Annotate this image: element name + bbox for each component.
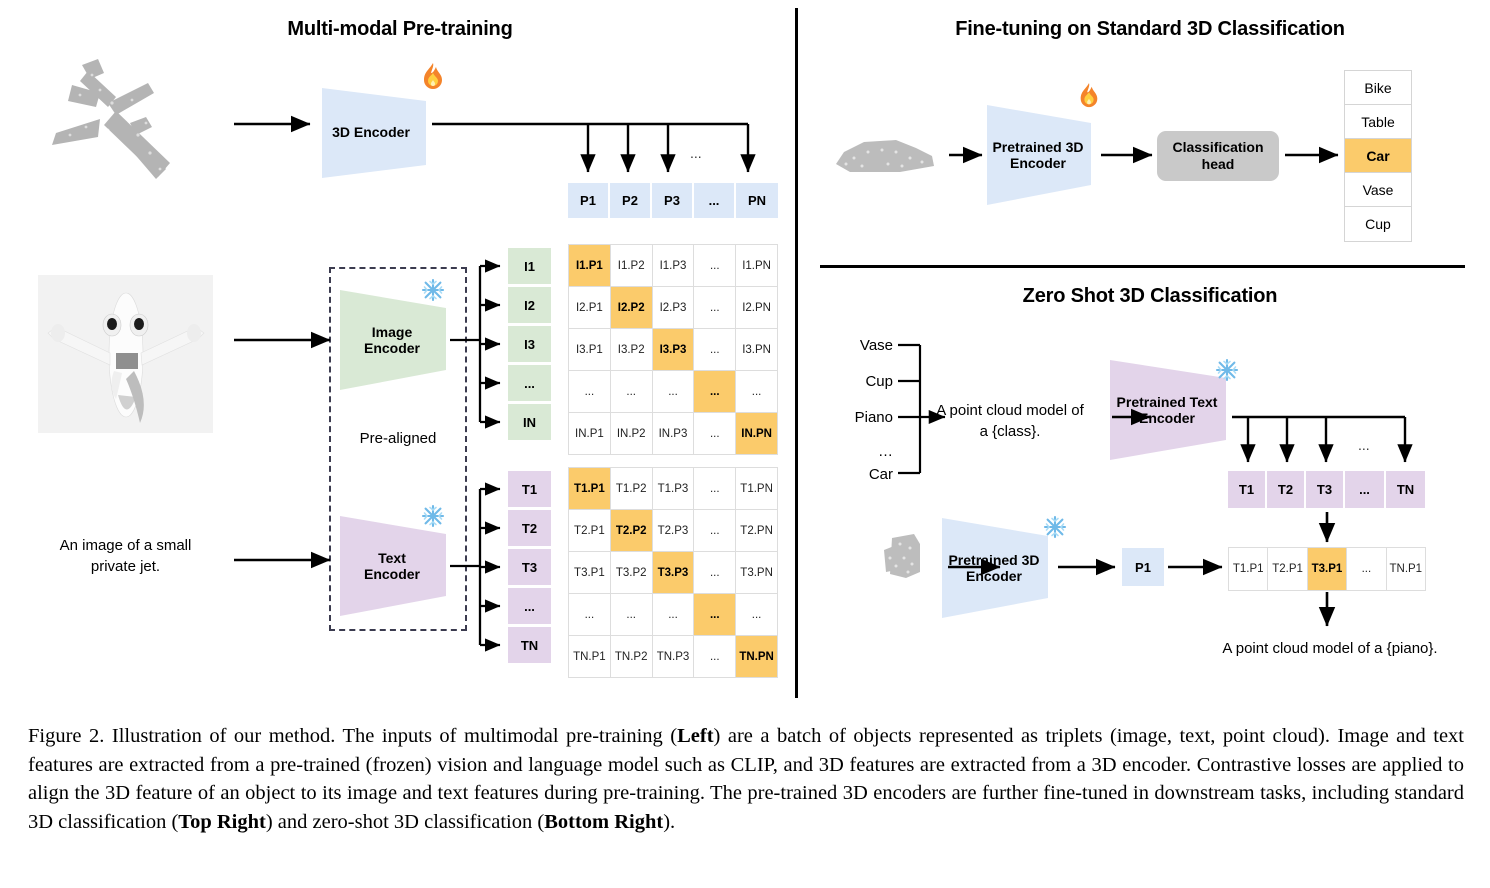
encoder-image-label-line2: Encoder	[336, 340, 448, 356]
zeroshot-t-token-2: T2	[1267, 471, 1304, 508]
text-matrix-cell: T2.P1	[569, 510, 611, 552]
text-matrix-cell: T2.P3	[652, 510, 694, 552]
t-token-ellipsis: ...	[508, 588, 551, 624]
image-matrix-cell: I3.P3	[652, 329, 694, 371]
image-matrix-cell: ...	[610, 371, 652, 413]
caption-bold-bottomright: Bottom Right	[544, 811, 663, 833]
text-matrix-cell: T1.P3	[652, 468, 694, 510]
class-item-cup[interactable]: Cup	[1345, 207, 1411, 241]
encoder-text-label-line2: Encoder	[336, 566, 448, 582]
t-token-2: T2	[508, 510, 551, 546]
fire-icon-finetune	[1077, 82, 1101, 110]
t-token-3: T3	[508, 549, 551, 585]
encoder-text: Text Encoder	[340, 516, 452, 616]
zeroshot-t-token-3: T3	[1306, 471, 1343, 508]
text-input-line1: An image of a small	[28, 537, 223, 554]
text-matrix-cell: ...	[694, 510, 736, 552]
encoder-3d-label: 3D Encoder	[316, 124, 426, 140]
figure-caption: Figure 2. Illustration of our method. Th…	[28, 722, 1464, 836]
caption-part-3: ) and zero-shot 3D classification (	[266, 811, 544, 833]
p-token-3: P3	[652, 183, 692, 218]
text-matrix-cell: TN.P2	[610, 636, 652, 678]
text-matrix-row: TN.P1TN.P2TN.P3...TN.PN	[569, 636, 778, 678]
encoder-pretrained-3d-line1: Pretrained 3D	[983, 139, 1093, 155]
image-matrix-cell: I1.PN	[736, 245, 778, 287]
i-token-2: I2	[508, 287, 551, 323]
encoder-pretrained-text-line2: Encoder	[1106, 410, 1228, 426]
image-matrix-cell: IN.PN	[736, 413, 778, 455]
zeroshot-score-row: T1.P1T2.P1T3.P1...TN.P1	[1228, 547, 1426, 591]
text-matrix-cell: ...	[694, 552, 736, 594]
p-token-row: P1 P2 P3 ... PN	[568, 183, 778, 218]
encoder-pretrained-3d-zeroshot-line2: Encoder	[938, 568, 1050, 584]
classification-head-line1: Classification	[1172, 139, 1263, 156]
zeroshot-class-vase: Vase	[833, 337, 893, 354]
text-matrix-cell: TN.P1	[569, 636, 611, 678]
text-matrix-cell: ...	[652, 594, 694, 636]
text-input-line2: private jet.	[28, 558, 223, 575]
panel-title-zeroshot: Zero Shot 3D Classification	[930, 285, 1370, 308]
zeroshot-score-cell: TN.P1	[1386, 548, 1425, 591]
text-matrix-cell: ...	[610, 594, 652, 636]
p-token-ellipsis: ...	[694, 183, 734, 218]
image-matrix-cell: I3.P2	[610, 329, 652, 371]
image-matrix-cell: ...	[694, 329, 736, 371]
text-point-similarity-matrix: T1.P1T1.P2T1.P3...T1.PNT2.P1T2.P2T2.P3..…	[568, 467, 778, 678]
zeroshot-score-cell: ...	[1347, 548, 1386, 591]
image-matrix-cell: ...	[694, 287, 736, 329]
text-matrix-cell: T2.PN	[736, 510, 778, 552]
caption-part-1: Figure 2. Illustration of our method. Th…	[28, 725, 677, 747]
encoder-3d: 3D Encoder	[322, 88, 432, 178]
image-matrix-cell: I2.P1	[569, 287, 611, 329]
encoder-image-label-line1: Image	[336, 324, 448, 340]
t-token-n: TN	[508, 627, 551, 663]
vertical-divider	[795, 8, 798, 698]
i-token-n: IN	[508, 404, 551, 440]
text-matrix-cell: T3.P3	[652, 552, 694, 594]
zeroshot-score-cell: T1.P1	[1229, 548, 1268, 591]
classification-head: Classification head	[1157, 131, 1279, 181]
text-matrix-cell: ...	[694, 594, 736, 636]
caption-bold-left: Left	[677, 725, 713, 747]
image-matrix-cell: IN.P2	[610, 413, 652, 455]
point-cloud-car	[830, 128, 942, 180]
class-item-table[interactable]: Table	[1345, 105, 1411, 139]
i-token-ellipsis: ...	[508, 365, 551, 401]
zeroshot-result-text: A point cloud model of a {piano}.	[1180, 640, 1480, 657]
image-matrix-cell: ...	[694, 371, 736, 413]
encoder-pretrained-3d-zeroshot: Pretrained 3D Encoder	[942, 518, 1054, 618]
image-matrix-cell: ...	[569, 371, 611, 413]
zeroshot-score-cell: T3.P1	[1307, 548, 1346, 591]
prompt-template-line2: a {class}.	[915, 423, 1105, 440]
encoder-text-label-line1: Text	[336, 550, 448, 566]
point-cloud-airplane	[20, 45, 210, 215]
text-matrix-cell: T1.PN	[736, 468, 778, 510]
image-matrix-cell: ...	[652, 371, 694, 413]
zeroshot-t-token-1: T1	[1228, 471, 1265, 508]
image-matrix-cell: I3.P1	[569, 329, 611, 371]
class-item-bike[interactable]: Bike	[1345, 71, 1411, 105]
encoder-pretrained-text-line1: Pretrained Text	[1106, 394, 1228, 410]
point-cloud-piano	[880, 528, 942, 588]
image-matrix-cell: I1.P3	[652, 245, 694, 287]
p-token-1: P1	[568, 183, 608, 218]
text-matrix-row: ...............	[569, 594, 778, 636]
text-matrix-cell: T2.P2	[610, 510, 652, 552]
i-token-3: I3	[508, 326, 551, 362]
image-matrix-row: IN.P1IN.P2IN.P3...IN.PN	[569, 413, 778, 455]
panel-title-multimodal-pretraining: Multi-modal Pre-training	[150, 18, 650, 41]
p-row-ellipsis-above: ...	[690, 145, 702, 161]
image-matrix-cell: IN.P3	[652, 413, 694, 455]
text-matrix-cell: ...	[694, 468, 736, 510]
jet-image	[38, 275, 213, 433]
image-matrix-row: ...............	[569, 371, 778, 413]
text-matrix-cell: TN.PN	[736, 636, 778, 678]
image-matrix-cell: I2.PN	[736, 287, 778, 329]
encoder-pretrained-3d-finetune: Pretrained 3D Encoder	[987, 105, 1097, 205]
encoder-pretrained-3d-zeroshot-line1: Pretrained 3D	[938, 552, 1050, 568]
zeroshot-p-token: P1	[1122, 548, 1164, 586]
snowflake-icon-text-encoder	[421, 504, 445, 528]
class-item-vase[interactable]: Vase	[1345, 173, 1411, 207]
image-matrix-row: I3.P1I3.P2I3.P3...I3.PN	[569, 329, 778, 371]
image-matrix-cell: I2.P2	[610, 287, 652, 329]
text-matrix-cell: T3.P1	[569, 552, 611, 594]
horizontal-divider	[820, 265, 1465, 268]
image-point-similarity-matrix: I1.P1I1.P2I1.P3...I1.PNI2.P1I2.P2I2.P3..…	[568, 244, 778, 455]
image-matrix-cell: I1.P2	[610, 245, 652, 287]
t-token-1: T1	[508, 471, 551, 507]
text-matrix-row: T3.P1T3.P2T3.P3...T3.PN	[569, 552, 778, 594]
text-matrix-cell: TN.P3	[652, 636, 694, 678]
class-list-finetune: Bike Table Car Vase Cup	[1344, 70, 1412, 242]
encoder-image: Image Encoder	[340, 290, 452, 390]
zeroshot-score-cell: T2.P1	[1268, 548, 1307, 591]
image-matrix-cell: I2.P3	[652, 287, 694, 329]
image-matrix-cell: ...	[694, 413, 736, 455]
snowflake-icon-image-encoder	[421, 278, 445, 302]
snowflake-icon-3d-encoder-zeroshot	[1043, 515, 1067, 539]
image-matrix-cell: I3.PN	[736, 329, 778, 371]
zeroshot-t-token-ellipsis: ...	[1345, 471, 1384, 508]
snowflake-icon-text-encoder-zeroshot	[1215, 358, 1239, 382]
zeroshot-class-piano: Piano	[823, 409, 893, 426]
text-matrix-cell: ...	[694, 636, 736, 678]
fire-icon	[420, 62, 446, 92]
zeroshot-score-row-line: T1.P1T2.P1T3.P1...TN.P1	[1229, 548, 1426, 591]
zeroshot-t-token-n: TN	[1386, 471, 1425, 508]
encoder-pretrained-3d-line2: Encoder	[983, 155, 1093, 171]
zeroshot-class-car: Car	[833, 466, 893, 483]
p-token-n: PN	[736, 183, 778, 218]
classification-head-line2: head	[1202, 156, 1235, 173]
text-matrix-row: T2.P1T2.P2T2.P3...T2.PN	[569, 510, 778, 552]
image-matrix-cell: ...	[736, 371, 778, 413]
image-matrix-row: I2.P1I2.P2I2.P3...I2.PN	[569, 287, 778, 329]
image-matrix-row: I1.P1I1.P2I1.P3...I1.PN	[569, 245, 778, 287]
prompt-template-line1: A point cloud model of	[915, 402, 1105, 419]
i-token-1: I1	[508, 248, 551, 284]
caption-part-4: ).	[663, 811, 675, 833]
zeroshot-t-token-row: T1 T2 T3 ... TN	[1228, 471, 1425, 508]
prealigned-label: Pre-aligned	[329, 430, 467, 447]
figure-root: Multi-modal Pre-training Fine-tuning on …	[0, 0, 1490, 888]
panel-title-finetuning: Fine-tuning on Standard 3D Classificatio…	[870, 18, 1430, 41]
image-matrix-cell: I1.P1	[569, 245, 611, 287]
zeroshot-t-row-ellipsis-above: ...	[1358, 437, 1370, 453]
encoder-pretrained-text: Pretrained Text Encoder	[1110, 360, 1232, 460]
text-matrix-cell: ...	[736, 594, 778, 636]
image-matrix-cell: IN.P1	[569, 413, 611, 455]
class-item-car[interactable]: Car	[1345, 139, 1411, 173]
text-matrix-cell: T3.P2	[610, 552, 652, 594]
text-matrix-row: T1.P1T1.P2T1.P3...T1.PN	[569, 468, 778, 510]
text-matrix-cell: T1.P1	[569, 468, 611, 510]
zeroshot-class-cup: Cup	[833, 373, 893, 390]
text-matrix-cell: T1.P2	[610, 468, 652, 510]
image-matrix-cell: ...	[694, 245, 736, 287]
p-token-2: P2	[610, 183, 650, 218]
zeroshot-class-ellipsis: …	[833, 443, 893, 460]
text-matrix-cell: ...	[569, 594, 611, 636]
caption-bold-topright: Top Right	[178, 811, 266, 833]
text-matrix-cell: T3.PN	[736, 552, 778, 594]
